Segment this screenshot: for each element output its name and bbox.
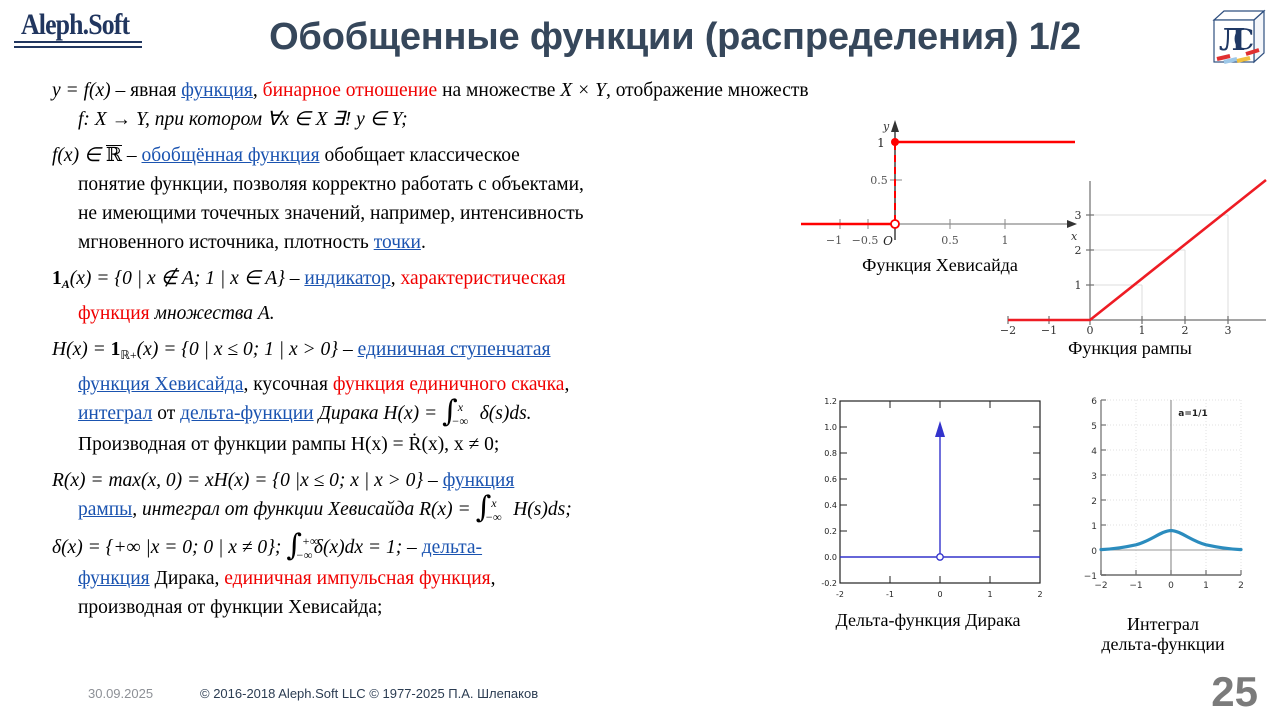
formula-heaviside-integrand: δ(s)ds.: [480, 403, 532, 424]
formula-indicator-subscript: A: [62, 277, 70, 291]
formula-ramp-integrand: H(s)ds;: [513, 499, 572, 520]
text-integral-ot-hevisayda: , интеграл от функции Хевисайда R(x) =: [132, 499, 475, 520]
figure-caption-delta-integral-line1: Интеграл: [1063, 614, 1263, 634]
svg-text:−2: −2: [1094, 581, 1107, 591]
text-ponyatie-funkcii: понятие функции, позволяя корректно рабо…: [52, 170, 842, 199]
svg-text:0.6: 0.6: [824, 475, 837, 484]
brand-logo-rule-2: [14, 46, 142, 48]
svg-text:0.4: 0.4: [824, 501, 837, 510]
formula-heaviside-subscript: ℝ+: [120, 348, 136, 362]
formula-heaviside-head: H(x) =: [52, 339, 111, 360]
svg-text:5: 5: [1091, 422, 1097, 432]
svg-text:1: 1: [1075, 279, 1082, 292]
formula-fx-in: f(x) ∈: [52, 145, 106, 166]
integral-sign-delta: ∫+∞−∞: [286, 535, 302, 564]
text-otobrazhenie: , отображение множеств: [606, 80, 809, 101]
slide-footer: 30.09.2025 © 2016-2018 Aleph.Soft LLC © …: [0, 682, 1280, 712]
formula-y-fx: y = f(x): [52, 80, 111, 101]
formula-heaviside-body: (x) = {0 | x ≤ 0; 1 | x > 0} –: [137, 339, 358, 360]
formula-x-cross-y: X × Y: [560, 80, 606, 101]
text-ne-imeyushchimi: не имеющими точечных значений, например,…: [52, 199, 842, 228]
slide-number: 25: [1211, 668, 1258, 716]
link-funkciya[interactable]: функция: [181, 80, 253, 101]
svg-text:2: 2: [1075, 244, 1082, 257]
footer-date: 30.09.2025: [88, 686, 153, 701]
svg-text:-2: -2: [836, 590, 844, 599]
paragraph-generalized-function: f(x) ∈ ℝ – обобщённая функция обобщает к…: [52, 141, 842, 257]
integral-lower-limit-ramp: −∞: [485, 503, 502, 532]
figure-caption-delta-integral-line2: дельта-функции: [1063, 634, 1263, 654]
paragraph-explicit-function: y = f(x) – явная функция, бинарное отнош…: [52, 76, 842, 134]
link-delta-1[interactable]: дельта-: [422, 537, 482, 558]
svg-text:2: 2: [1182, 324, 1189, 335]
figure-caption-delta-integral: Интеграл дельта-функции: [1063, 614, 1263, 654]
brand-logo-rule-1: [14, 41, 142, 43]
formula-heaviside-integral-head: Дирака H(x) =: [314, 403, 442, 424]
svg-text:0.5: 0.5: [870, 174, 888, 187]
svg-text:1.2: 1.2: [824, 397, 837, 406]
symbol-extended-reals: ℝ: [106, 145, 122, 165]
chart-annotation-a-value: a=1/1: [1178, 409, 1207, 419]
figure-ramp-function: 1 2 3 −2 −1 0 1 2 3: [990, 175, 1270, 340]
text-obobshchaet: обобщает классическое: [320, 145, 520, 166]
svg-text:y: y: [882, 120, 890, 133]
link-rampy[interactable]: рампы: [78, 499, 132, 520]
svg-text:O: O: [883, 234, 893, 248]
text-diraka: Дирака,: [150, 568, 225, 589]
link-funkciya-hevisayda[interactable]: функция Хевисайда: [78, 374, 243, 395]
link-edinichnaya-stupenchataya[interactable]: единичная ступенчатая: [358, 339, 551, 360]
svg-text:0: 0: [1087, 324, 1094, 335]
link-tochki[interactable]: точки: [374, 232, 421, 253]
text-na-mnozhestve: на множестве: [437, 80, 560, 101]
svg-text:4: 4: [1091, 447, 1097, 457]
formula-indicator-body: (x) = {0 | x ∉ A; 1 | x ∈ A} –: [70, 268, 305, 289]
svg-text:−1: −1: [1129, 581, 1142, 591]
integral-lower-limit-delta: −∞: [296, 541, 313, 570]
formula-delta-integrand: δ(x)dx = 1; –: [314, 537, 422, 558]
text-harakteristicheskaya: характеристическая: [400, 268, 565, 289]
svg-text:1.0: 1.0: [824, 423, 837, 432]
paragraph-indicator-function: 1A(x) = {0 | x ∉ A; 1 | x ∈ A} – индикат…: [52, 264, 842, 328]
text-proizvodnaya-hevisayda: производная от функции Хевисайда;: [52, 593, 842, 622]
brand-logo-aleph-soft: Aleph.Soft: [14, 10, 154, 48]
integral-sign-heaviside: ∫x−∞: [442, 401, 458, 430]
svg-text:1: 1: [987, 590, 992, 599]
text-ot: от: [152, 403, 180, 424]
svg-text:0: 0: [1091, 547, 1097, 557]
svg-text:0: 0: [1168, 581, 1174, 591]
figure-delta-integral: a=1/1 6 5 4 3 2 1 0 −1 −2 −1 0 1 2: [1063, 392, 1263, 612]
link-obobshchennaya-funkciya[interactable]: обобщённая функция: [142, 145, 320, 166]
svg-text:0.0: 0.0: [824, 553, 837, 562]
svg-text:0.5: 0.5: [941, 234, 959, 247]
svg-text:−2: −2: [1000, 324, 1016, 335]
text-binary-relation: бинарное отношение: [263, 80, 438, 101]
text-funkciya-edinichnogo-skachka: функция единичного скачка: [333, 374, 565, 395]
text-kusochnaya: , кусочная: [243, 374, 332, 395]
formula-indicator-one: 1: [52, 268, 62, 289]
text-edinichnaya-impulsnaya: единичная импульсная функция: [224, 568, 490, 589]
figure-caption-ramp: Функция рампы: [990, 338, 1270, 358]
company-cube-logo: Л С: [1206, 4, 1272, 70]
svg-text:3: 3: [1075, 209, 1082, 222]
page-title: Обобщенные функции (распределения) 1/2: [170, 8, 1180, 66]
svg-text:−0.5: −0.5: [852, 234, 879, 247]
sep-comma-4: ,: [491, 568, 496, 589]
sep-dash: –: [122, 145, 142, 166]
text-mgnovennogo: мгновенного источника, плотность: [78, 232, 374, 253]
integral-lower-limit: −∞: [451, 407, 468, 436]
link-integral[interactable]: интеграл: [78, 403, 152, 424]
link-funkciya-rampy-1[interactable]: функция: [443, 470, 515, 491]
text-yavnaya: – явная: [111, 80, 182, 101]
svg-text:-1: -1: [886, 590, 894, 599]
link-indikator[interactable]: индикатор: [304, 268, 390, 289]
svg-text:1: 1: [1203, 581, 1209, 591]
text-funkciya-red: функция: [78, 303, 150, 324]
svg-text:0: 0: [937, 590, 942, 599]
figure-dirac-delta: 1.2 1.0 0.8 0.6 0.4 0.2 0.0 -0.2 -2 -1 0…: [805, 393, 1050, 611]
footer-copyright: © 2016-2018 Aleph.Soft LLC © 1977-2025 П…: [200, 686, 538, 701]
paragraph-dirac-delta: δ(x) = {+∞ |x = 0; 0 | x ≠ 0}; ∫+∞−∞δ(x)…: [52, 533, 842, 622]
slide-body: y = f(x) – явная функция, бинарное отнош…: [52, 76, 842, 629]
link-delta-funkcii[interactable]: дельта-функции: [180, 403, 313, 424]
sep-comma-3: ,: [564, 374, 569, 395]
svg-text:1: 1: [1139, 324, 1146, 335]
paragraph-heaviside: H(x) = 1ℝ+(x) = {0 | x ≤ 0; 1 | x > 0} –…: [52, 335, 842, 459]
text-proizvodnaya-rampy: Производная от функции рампы H(x) = Ṙ(x)…: [52, 430, 842, 459]
integral-sign-ramp: ∫x−∞: [476, 497, 492, 526]
svg-text:1: 1: [1091, 522, 1097, 532]
formula-heaviside-one: 1: [111, 339, 121, 360]
svg-text:−1: −1: [826, 234, 842, 247]
svg-text:2: 2: [1091, 497, 1097, 507]
text-mnozhestva-a: множества A.: [150, 303, 275, 324]
figure-caption-dirac-delta: Дельта-функция Дирака: [788, 610, 1068, 630]
formula-ramp-head: R(x) = max(x, 0) = xH(x) = {0 |x ≤ 0; x …: [52, 470, 443, 491]
sep-period: .: [421, 232, 426, 253]
link-funkciya-dirac[interactable]: функция: [78, 568, 150, 589]
svg-text:0.8: 0.8: [824, 449, 837, 458]
svg-text:2: 2: [1037, 590, 1042, 599]
svg-text:3: 3: [1091, 472, 1097, 482]
svg-text:2: 2: [1238, 581, 1244, 591]
svg-text:1: 1: [877, 136, 885, 150]
sep-comma: ,: [253, 80, 263, 101]
svg-text:-0.2: -0.2: [821, 579, 837, 588]
formula-delta-head: δ(x) = {+∞ |x = 0; 0 | x ≠ 0};: [52, 537, 286, 558]
formula-f-x-to-y: f: X → Y, при котором ∀x ∈ X ∃! y ∈ Y;: [52, 105, 842, 134]
svg-text:3: 3: [1225, 324, 1232, 335]
slide: Aleph.Soft Обобщенные функции (распредел…: [0, 0, 1280, 720]
brand-logo-text: Aleph.Soft: [21, 10, 129, 40]
paragraph-ramp: R(x) = max(x, 0) = xH(x) = {0 |x ≤ 0; x …: [52, 466, 842, 526]
svg-text:−1: −1: [1041, 324, 1057, 335]
svg-text:6: 6: [1091, 397, 1097, 407]
svg-text:0.2: 0.2: [824, 527, 837, 536]
